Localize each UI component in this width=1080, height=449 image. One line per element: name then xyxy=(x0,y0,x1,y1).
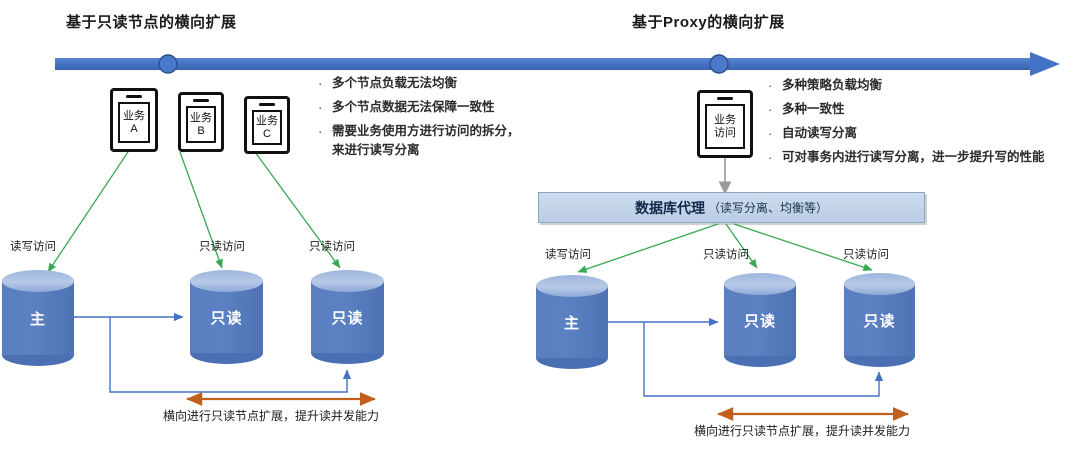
tablet-speaker-icon xyxy=(126,95,142,98)
tablet-speaker-icon xyxy=(717,97,733,100)
list-item: · 可对事务内进行读写分离，进一步提升写的性能 xyxy=(768,148,1045,167)
bullet-text: 需要业务使用方进行访问的拆分， 来进行读写分离 xyxy=(332,122,520,160)
access-label-readwrite-left: 读写访问 xyxy=(10,238,56,254)
bullet-marker: · xyxy=(318,98,332,117)
list-item: · 多个节点负载无法均衡 xyxy=(318,74,520,93)
proxy-title: 数据库代理 xyxy=(635,198,705,218)
database-label: 只读 xyxy=(724,273,796,367)
device-label-line1: 业务 xyxy=(123,110,145,123)
access-label-readonly-left-1: 只读访问 xyxy=(199,238,245,254)
database-readonly-left-2[interactable]: 只读 xyxy=(311,270,384,364)
tablet-screen: 业务 A xyxy=(118,102,150,143)
bullet-marker: · xyxy=(318,74,332,93)
device-label-line2: B xyxy=(197,125,204,138)
timeline-arrow xyxy=(55,52,1060,76)
bullet-text: 多个节点数据无法保障一致性 xyxy=(332,98,495,117)
tablet-speaker-icon xyxy=(259,103,275,106)
page-title-right: 基于Proxy的横向扩展 xyxy=(632,11,785,32)
left-green-arrows xyxy=(48,152,340,272)
database-label: 只读 xyxy=(844,273,915,367)
device-label-line1: 业务 xyxy=(256,115,278,128)
device-label-line1: 业务 xyxy=(190,112,212,125)
device-tablet-b[interactable]: 业务 B xyxy=(178,92,224,152)
device-tablet-a[interactable]: 业务 A xyxy=(110,88,158,152)
bullet-text: 自动读写分离 xyxy=(782,124,857,143)
right-scale-caption: 横向进行只读节点扩展，提升读并发能力 xyxy=(694,422,910,439)
database-proxy-box[interactable]: 数据库代理 （读写分离、均衡等） xyxy=(538,192,925,223)
bullet-marker: · xyxy=(768,76,782,95)
connector-layer xyxy=(0,0,1080,449)
device-tablet-c[interactable]: 业务 C xyxy=(244,96,290,154)
right-bullet-list: · 多种策略负载均衡 · 多种一致性 · 自动读写分离 · 可对事务内进行读写分… xyxy=(768,76,1045,172)
diagram-canvas: 基于只读节点的横向扩展 基于Proxy的横向扩展 xyxy=(0,0,1080,449)
bullet-text: 多种一致性 xyxy=(782,100,845,119)
list-item: · 自动读写分离 xyxy=(768,124,1045,143)
list-item: · 多种策略负载均衡 xyxy=(768,76,1045,95)
left-scale-caption: 横向进行只读节点扩展，提升读并发能力 xyxy=(163,407,379,424)
device-label-line2: 访问 xyxy=(714,127,736,140)
access-label-readonly-right-1: 只读访问 xyxy=(703,246,749,262)
database-primary-left[interactable]: 主 xyxy=(2,270,74,366)
list-item: · 需要业务使用方进行访问的拆分， 来进行读写分离 xyxy=(318,122,520,160)
database-primary-right[interactable]: 主 xyxy=(536,275,608,369)
database-readonly-right-1[interactable]: 只读 xyxy=(724,273,796,367)
access-label-readwrite-right: 读写访问 xyxy=(545,246,591,262)
bullet-text: 多个节点负载无法均衡 xyxy=(332,74,457,93)
tablet-screen: 业务 B xyxy=(186,106,216,143)
access-label-readonly-left-2: 只读访问 xyxy=(309,238,355,254)
timeline-marker-right xyxy=(710,55,728,73)
page-title-left: 基于只读节点的横向扩展 xyxy=(66,11,237,32)
timeline-marker-left xyxy=(159,55,177,73)
bullet-text: 多种策略负载均衡 xyxy=(782,76,882,95)
bullet-text: 可对事务内进行读写分离，进一步提升写的性能 xyxy=(782,148,1045,167)
tablet-screen: 业务 访问 xyxy=(705,104,745,149)
device-label-line1: 业务 xyxy=(714,114,736,127)
proxy-subtitle: （读写分离、均衡等） xyxy=(708,199,828,216)
database-label: 只读 xyxy=(190,270,263,364)
list-item: · 多种一致性 xyxy=(768,100,1045,119)
device-label-line2: C xyxy=(263,128,271,141)
access-label-readonly-right-2: 只读访问 xyxy=(843,246,889,262)
bullet-marker: · xyxy=(768,148,782,167)
tablet-speaker-icon xyxy=(193,99,209,102)
database-label: 只读 xyxy=(311,270,384,364)
list-item: · 多个节点数据无法保障一致性 xyxy=(318,98,520,117)
device-label-line2: A xyxy=(130,123,137,136)
database-label: 主 xyxy=(536,275,608,369)
database-readonly-right-2[interactable]: 只读 xyxy=(844,273,915,367)
database-readonly-left-1[interactable]: 只读 xyxy=(190,270,263,364)
database-label: 主 xyxy=(2,270,74,366)
tablet-screen: 业务 C xyxy=(252,110,282,145)
bullet-marker: · xyxy=(768,124,782,143)
bullet-marker: · xyxy=(768,100,782,119)
device-tablet-access[interactable]: 业务 访问 xyxy=(697,90,753,158)
bullet-marker: · xyxy=(318,122,332,141)
left-bullet-list: · 多个节点负载无法均衡 · 多个节点数据无法保障一致性 · 需要业务使用方进行… xyxy=(318,74,520,165)
